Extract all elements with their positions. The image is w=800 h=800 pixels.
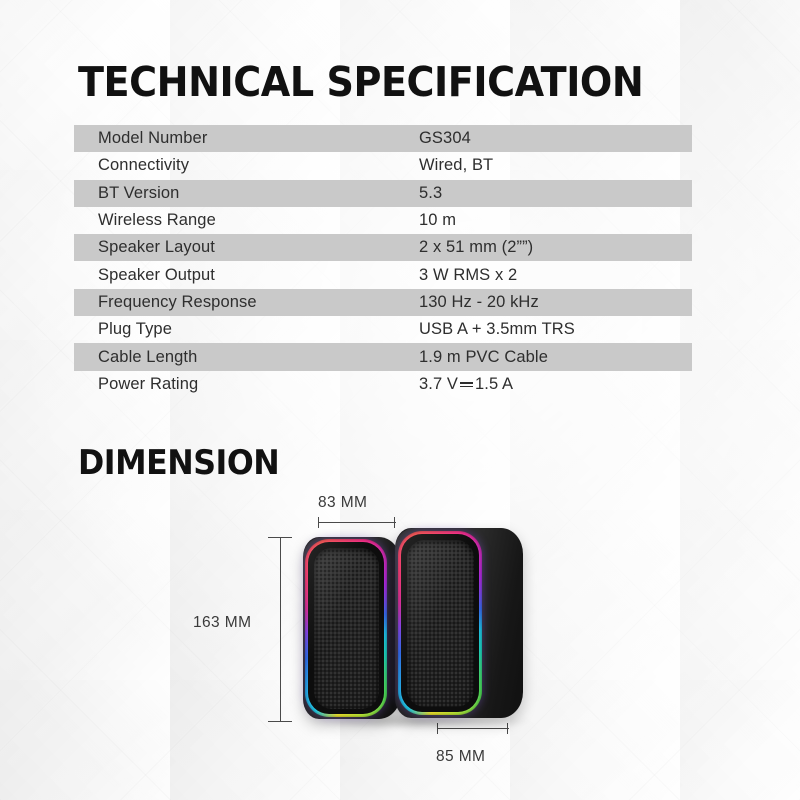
spec-value: Wired, BT — [419, 156, 692, 175]
spec-label: Speaker Layout — [74, 238, 419, 257]
spec-label: Wireless Range — [74, 211, 419, 230]
spec-label: Model Number — [74, 129, 419, 148]
spec-value: 3 W RMS x 2 — [419, 266, 692, 285]
height-dimension-label: 163 MM — [193, 614, 251, 632]
spec-value: 3.7 V1.5 A — [419, 375, 692, 394]
spec-value: 10 m — [419, 211, 692, 230]
spec-label: BT Version — [74, 184, 419, 203]
spec-label: Connectivity — [74, 156, 419, 175]
spec-sheet-page: TECHNICAL SPECIFICATION Model Number GS3… — [0, 0, 800, 800]
spec-value: 2 x 51 mm (2””) — [419, 238, 692, 257]
spec-label: Frequency Response — [74, 293, 419, 312]
table-row: Speaker Layout 2 x 51 mm (2””) — [74, 234, 692, 261]
height-tick-top — [268, 537, 292, 538]
spec-value: GS304 — [419, 129, 692, 148]
speaker-left-rgb-ring — [305, 539, 387, 717]
spec-value: 130 Hz - 20 kHz — [419, 293, 692, 312]
spec-label: Plug Type — [74, 320, 419, 339]
speaker-right-rgb-ring — [398, 531, 482, 715]
width-dimension-label: 83 MM — [318, 494, 367, 512]
table-row: Connectivity Wired, BT — [74, 152, 692, 179]
table-row: BT Version 5.3 — [74, 180, 692, 207]
technical-specification-title: TECHNICAL SPECIFICATION — [78, 58, 643, 106]
spec-label: Cable Length — [74, 348, 419, 367]
spec-label: Speaker Output — [74, 266, 419, 285]
speaker-left-bezel — [308, 542, 384, 714]
power-voltage: 3.7 V — [419, 375, 458, 393]
height-dimension-line — [280, 537, 281, 722]
spec-value: 1.9 m PVC Cable — [419, 348, 692, 367]
specification-table: Model Number GS304 Connectivity Wired, B… — [74, 125, 692, 398]
table-row: Power Rating 3.7 V1.5 A — [74, 371, 692, 398]
table-row: Model Number GS304 — [74, 125, 692, 152]
dimension-diagram: 83 MM 163 MM 85 MM — [0, 470, 800, 800]
table-row: Wireless Range 10 m — [74, 207, 692, 234]
table-row: Frequency Response 130 Hz - 20 kHz — [74, 289, 692, 316]
width-dimension-line — [318, 522, 396, 523]
speaker-right-bezel — [401, 534, 479, 712]
product-image-speakers — [295, 525, 555, 740]
depth-dimension-label: 85 MM — [436, 748, 485, 766]
speaker-right-grille — [407, 540, 474, 707]
table-row: Speaker Output 3 W RMS x 2 — [74, 261, 692, 288]
table-row: Cable Length 1.9 m PVC Cable — [74, 343, 692, 370]
spec-value: 5.3 — [419, 184, 692, 203]
power-current: 1.5 A — [475, 375, 513, 393]
table-row: Plug Type USB A + 3.5mm TRS — [74, 316, 692, 343]
height-tick-bottom — [268, 721, 292, 722]
spec-value: USB A + 3.5mm TRS — [419, 320, 692, 339]
spec-label: Power Rating — [74, 375, 419, 394]
dc-current-icon — [460, 379, 473, 389]
speaker-left-grille — [314, 548, 379, 709]
